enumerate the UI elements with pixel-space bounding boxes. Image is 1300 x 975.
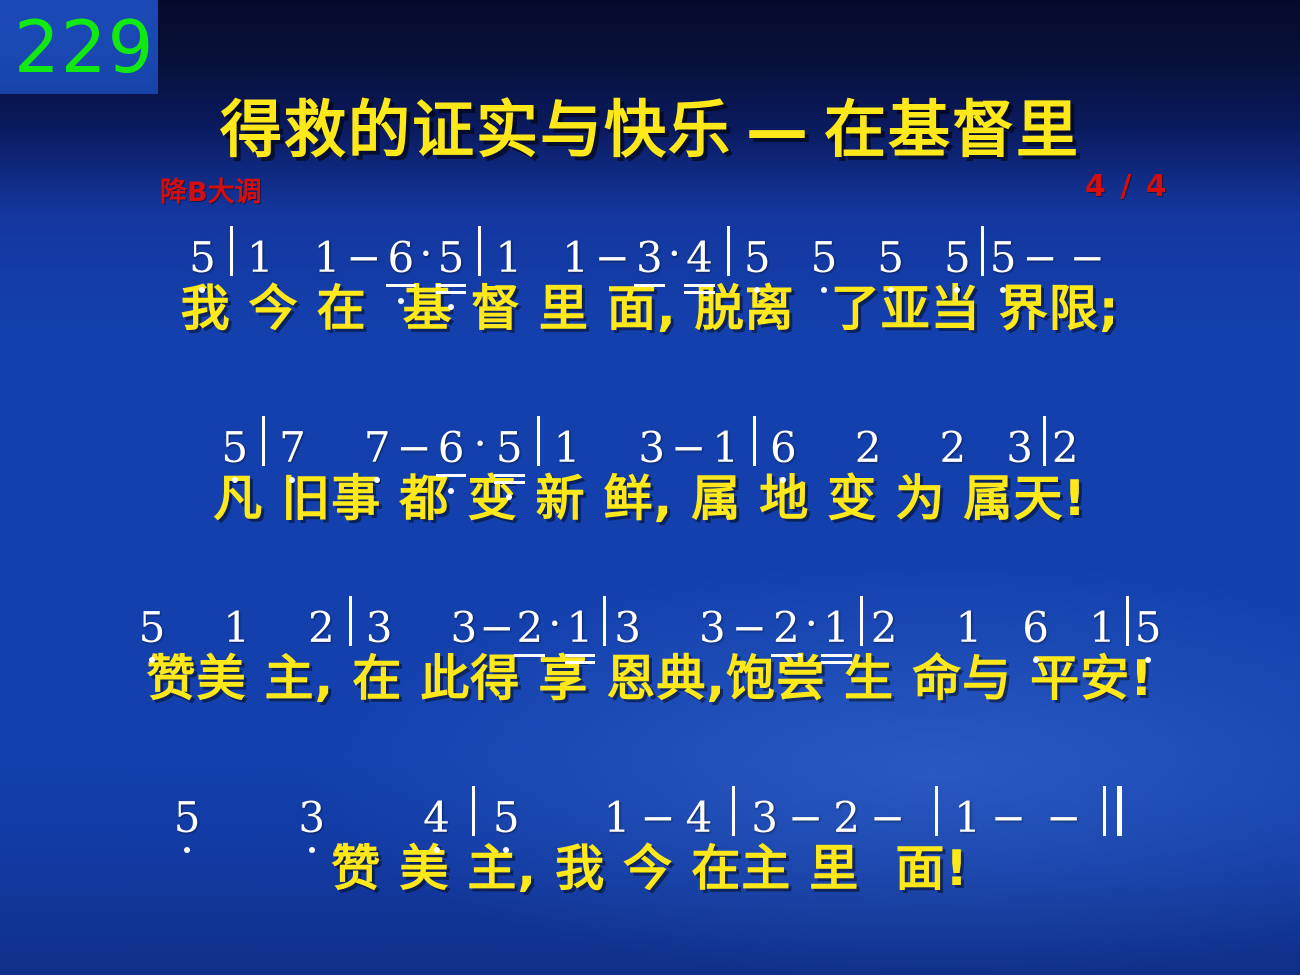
note: 1 [554,426,581,470]
note: 5 [811,236,838,280]
note: 5 [139,606,166,650]
lyrics-line-2: 凡 旧事 都 变 新 鲜, 属 地 变 为 属天! [0,470,1300,528]
barline-icon [935,786,938,836]
note-sustain: − [1017,236,1064,280]
note: 5 [1135,606,1162,650]
note: 6 [770,426,797,470]
key-signature: 降B大调 [160,178,262,208]
note: 1 [567,606,594,650]
note: 6 [1022,606,1049,650]
note: 2 [516,606,543,650]
barline-icon [603,596,606,646]
note: 3 [751,796,778,840]
note: 3 [638,426,665,470]
note: 2 [855,426,882,470]
note-sustain: − [860,796,915,840]
barline-icon [1126,596,1129,646]
hymn-number: 229 [14,4,154,90]
note: 1 [223,606,250,650]
notation-line-2: 5 7 7 − 6 · 5 1 3 − 1 6 2 2 3 2 [0,412,1300,470]
note: 1 [495,236,522,280]
note: 3 [1006,426,1033,470]
barline-icon [981,226,984,276]
note: 5 [944,236,971,280]
stanza-3: 5 1 2 3 3 − 2 · 1 3 3 − 2 · 1 2 1 6 1 5 … [0,592,1300,708]
note-sustain: − [981,796,1036,840]
note: 1 [956,606,983,650]
note: 2 [939,426,966,470]
note: 2 [773,606,800,650]
barline-icon [1043,416,1046,466]
note: 5 [189,236,216,280]
notation-line-4: 5 3 4 5 1 − 4 3 − 2 − 1 − − [0,782,1300,840]
page-title: 得救的证实与快乐—在基督里 [0,94,1300,166]
lyrics-line-1: 我 今 在 基 督 里 面, 脱离 了亚当 界限; [0,280,1300,338]
note: 3 [451,606,478,650]
note-sustain: − [778,796,833,840]
title-dash: — [732,93,824,166]
barline-icon [860,596,863,646]
note-sustain: − [477,606,516,650]
note: 5 [877,236,904,280]
note: 4 [423,796,450,840]
note: 4 [686,236,713,280]
note: 3 [298,796,325,840]
time-signature: 4 / 4 [1085,170,1169,204]
barline-icon [230,226,233,276]
note: 1 [314,236,341,280]
barline-icon [727,226,730,276]
hymn-slide: 229 得救的证实与快乐—在基督里 降B大调 4 / 4 5 1 1 − 6 ·… [0,0,1300,975]
barline-icon [349,596,352,646]
lyrics-line-4: 赞 美 主, 我 今 在主 里 面! [0,840,1300,898]
note: 4 [686,796,713,840]
note: 7 [279,426,306,470]
note: 5 [221,426,248,470]
note-sustain: − [665,426,712,470]
note: 5 [744,236,771,280]
note-dot: · [800,602,823,646]
barline-icon [732,786,735,836]
note-group: 5 [496,426,523,470]
note: 1 [604,796,631,840]
note: 5 [493,796,520,840]
note-sustain: − [391,426,438,470]
barline-icon [262,416,265,466]
barline-icon [537,416,540,466]
notation-line-3: 5 1 2 3 3 − 2 · 1 3 3 − 2 · 1 2 1 6 1 5 [0,592,1300,650]
final-barline-icon [1103,786,1122,836]
note: 2 [833,796,860,840]
note: 1 [823,606,850,650]
stanza-1: 5 1 1 − 6 · 5 1 1 − 3 · 4 5 5 5 5 5 − − … [0,222,1300,338]
note: 1 [712,426,739,470]
note: 3 [699,606,726,650]
note-group: 6 [438,426,465,470]
note: 2 [1052,426,1079,470]
stanza-4: 5 3 4 5 1 − 4 3 − 2 − 1 − − 赞 美 主, 我 今 在… [0,782,1300,898]
note-sustain: − [1036,796,1091,840]
note: 2 [308,606,335,650]
note: 5 [174,796,201,840]
note-group: 5 [438,236,465,280]
note-sustain: − [630,796,685,840]
note-group: 6 [388,236,415,280]
title-main: 得救的证实与快乐 [220,93,732,166]
note: 1 [247,236,274,280]
hymn-number-badge: 229 [0,0,158,94]
barline-icon [478,226,481,276]
note: 1 [1089,606,1116,650]
note-sustain: − [340,236,387,280]
note-dot: · [543,602,566,646]
notation-line-1: 5 1 1 − 6 · 5 1 1 − 3 · 4 5 5 5 5 5 − − [0,222,1300,280]
title-sub: 在基督里 [824,93,1080,166]
note-sustain: − [1064,236,1111,280]
note-sustain: − [589,236,636,280]
note: 3 [636,236,663,280]
note-dot: · [663,232,686,276]
note-dot: · [414,232,437,276]
stanza-2: 5 7 7 − 6 · 5 1 3 − 1 6 2 2 3 2 凡 旧事 都 变… [0,412,1300,528]
note-dot: · [464,422,495,466]
note: 2 [871,606,898,650]
note: 1 [562,236,589,280]
note: 3 [614,606,641,650]
barline-icon [472,786,475,836]
note: 3 [366,606,393,650]
barline-icon [753,416,756,466]
note: 1 [954,796,981,840]
note-sustain: − [726,606,773,650]
note: 5 [990,236,1017,280]
note: 7 [364,426,391,470]
lyrics-line-3: 赞美 主, 在 此得 享 恩典,饱尝 生 命与 平安! [0,650,1300,708]
